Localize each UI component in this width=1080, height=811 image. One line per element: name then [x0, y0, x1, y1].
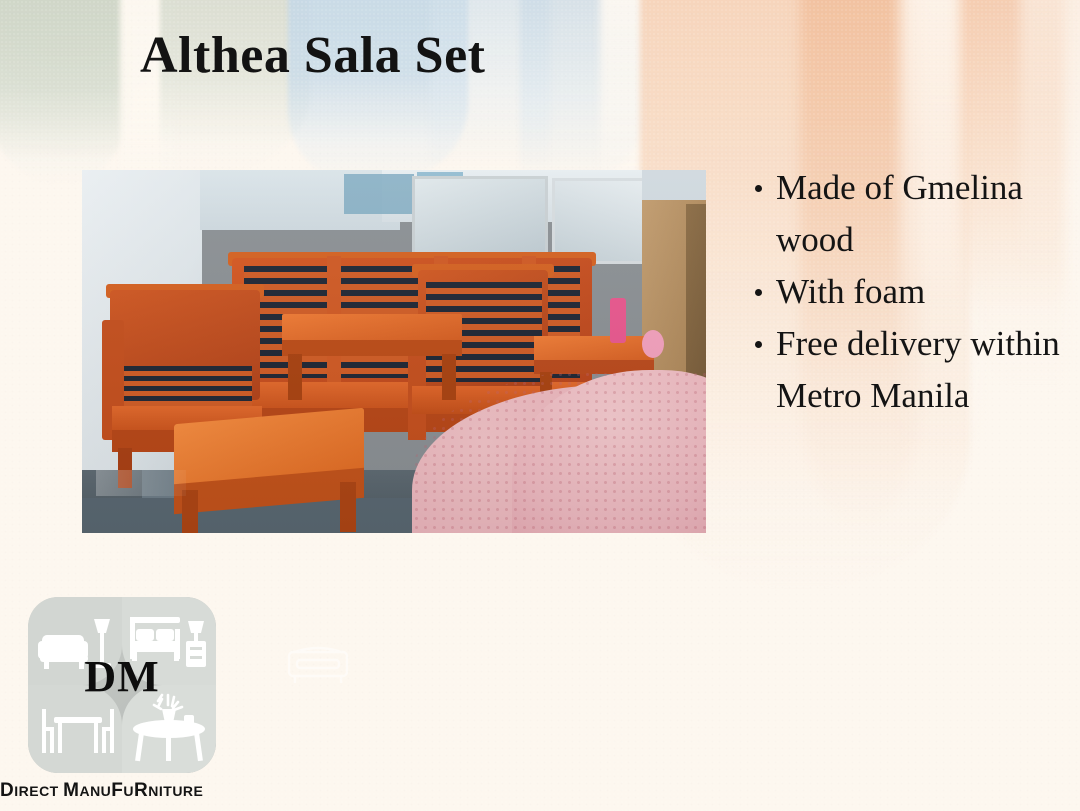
logo-monogram: DM — [28, 651, 216, 702]
sage-watercolor-wash-inner — [0, 0, 130, 185]
bullet-dot-icon — [755, 341, 762, 348]
photo-shading-overlay — [82, 170, 706, 533]
feature-list: Made of Gmelina wood With foam Free deli… — [755, 162, 1075, 422]
list-item: Free delivery within Metro Manila — [755, 318, 1075, 422]
list-item: Made of Gmelina wood — [755, 162, 1075, 266]
round-table-plant-icon — [128, 693, 210, 767]
bullet-dot-icon — [755, 289, 762, 296]
product-photo — [82, 170, 706, 533]
list-item-label: With foam — [776, 266, 1075, 318]
blue-watercolor-wash-right — [520, 0, 650, 185]
list-item-label: Made of Gmelina wood — [776, 162, 1075, 266]
page-title: Althea Sala Set — [140, 26, 486, 85]
brand-name: DIRECT MANUFURNITURE — [0, 780, 250, 802]
list-item: With foam — [755, 266, 1075, 318]
dining-table-chairs-icon — [38, 695, 118, 765]
bullet-dot-icon — [755, 185, 762, 192]
brand-logo: DM — [28, 597, 216, 773]
slide-canvas: Althea Sala Set — [0, 0, 1080, 811]
list-item-label: Free delivery within Metro Manila — [776, 318, 1075, 422]
sofa-icon — [283, 638, 353, 686]
logo-icon-grid: DM — [28, 597, 216, 773]
